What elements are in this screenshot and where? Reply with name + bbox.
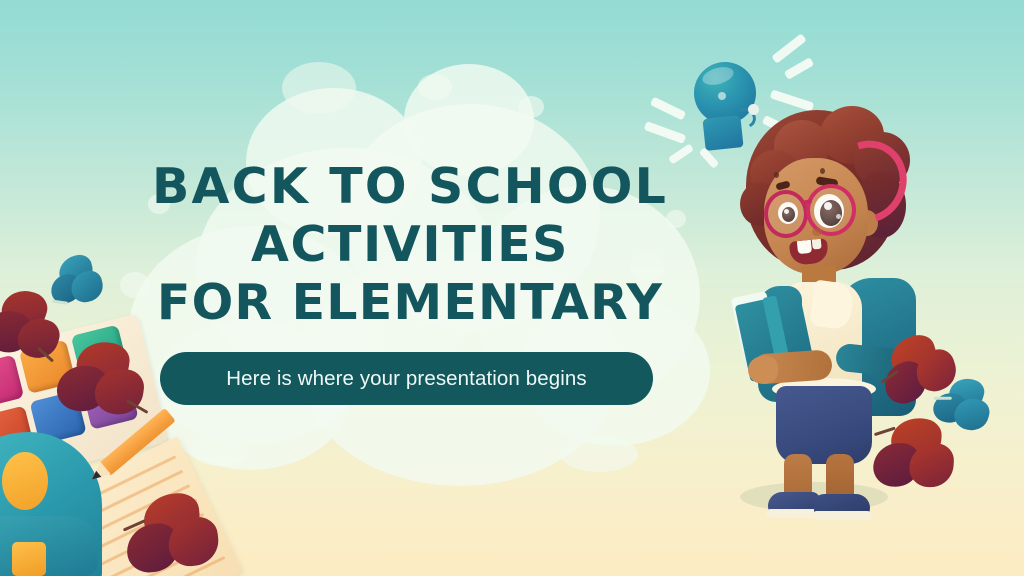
- page-title: Back to School Activities for Elementary: [150, 158, 670, 332]
- presentation-slide: Back to School Activities for Elementary…: [0, 0, 1024, 576]
- nose: [812, 228, 822, 236]
- title-line-1: Back to School: [150, 158, 670, 216]
- leaf-bottom-left: [120, 489, 225, 576]
- backpack-buckle: [12, 542, 46, 576]
- backpack-orange-patch: [2, 452, 48, 510]
- subtitle-text: Here is where your presentation begins: [226, 367, 586, 391]
- subtitle-pill: Here is where your presentation begins: [160, 352, 653, 405]
- hand-holding-book: [748, 356, 778, 384]
- teal-backpack: [0, 416, 110, 576]
- leaf-right-lower: [869, 415, 958, 501]
- bell-nub: [718, 92, 726, 100]
- navy-skirt: [776, 386, 872, 464]
- title-line-3: for Elementary: [150, 274, 670, 332]
- glasses-lens-left: [764, 190, 808, 238]
- leaf-palette-front: [50, 336, 153, 434]
- title-line-2: Activities: [150, 216, 670, 274]
- tooth-side: [812, 239, 822, 250]
- freckle-a: [774, 172, 779, 178]
- freckle-b: [820, 168, 825, 174]
- shoe-right-sole: [812, 511, 872, 520]
- tooth-main: [797, 240, 812, 254]
